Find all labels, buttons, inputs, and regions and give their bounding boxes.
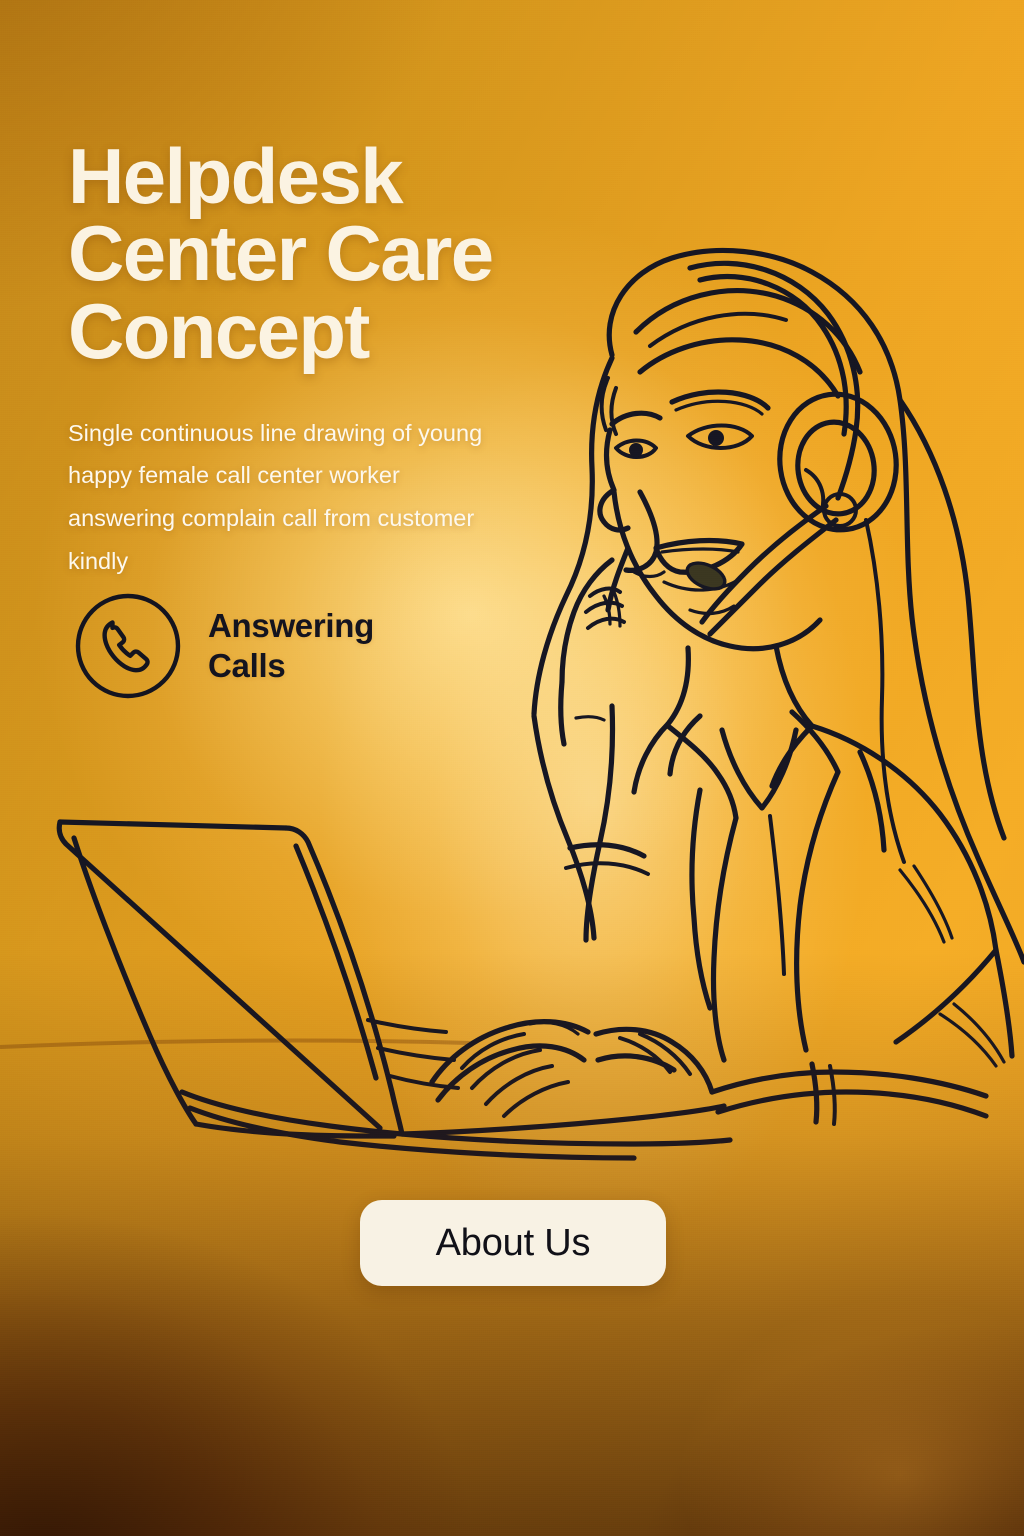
headline-line-1: Helpdesk [68,138,688,215]
poster-canvas: Helpdesk Center Care Concept Single cont… [0,0,1024,1536]
feature-label: Answering Calls [208,606,438,687]
phone-handset-icon [74,592,182,700]
about-us-button[interactable]: About Us [360,1200,666,1286]
page-title: Helpdesk Center Care Concept [68,138,688,370]
headline-line-2: Center Care [68,215,688,292]
subtitle-text: Single continuous line drawing of young … [68,412,498,583]
headline-line-3: Concept [68,293,688,370]
feature-answering-calls: Answering Calls [74,592,438,700]
